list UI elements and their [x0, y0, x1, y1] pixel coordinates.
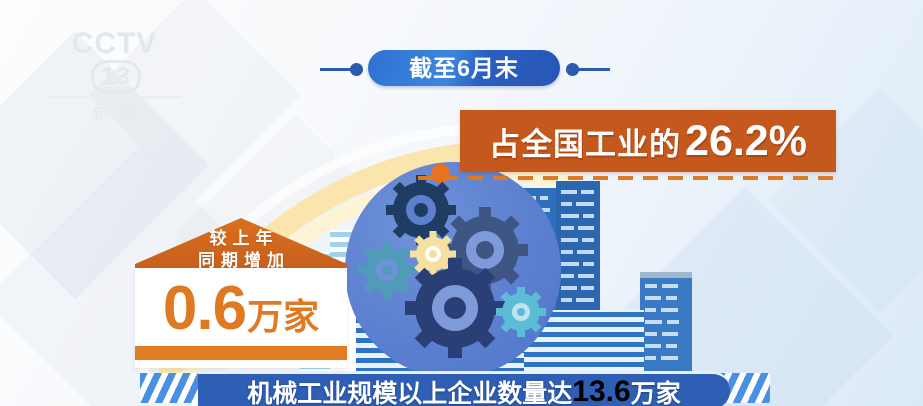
- gear-dark-navy-top: [386, 175, 456, 245]
- pill-right-line: [578, 68, 610, 71]
- orange-dashed-divider: [418, 176, 836, 180]
- share-prefix-label: 占全国工业的: [489, 119, 681, 164]
- roof-label-line1: 较上年: [141, 228, 347, 250]
- headline-value: 13.6: [572, 375, 630, 406]
- card-body: 0.6万家: [135, 268, 347, 368]
- cctv-logo-number: 13: [91, 60, 141, 94]
- infographic-canvas: CCTV13 新闻 截至6月末 占全国工业的 26.2% 较上年 同期增加 0.…: [0, 0, 923, 406]
- gear-navy-large-bottom: [405, 258, 505, 358]
- share-value: 26.2%: [685, 117, 807, 166]
- cctv-logo: CCTV13 新闻: [47, 28, 182, 88]
- yoy-increase-card: 较上年 同期增加 0.6万家: [135, 218, 347, 368]
- cctv-logo-text: CCTV: [72, 27, 158, 60]
- cctv-logo-subtitle: 新闻: [47, 96, 182, 125]
- left-stripe-decoration: [140, 373, 206, 403]
- broadcast-watermark-icon: [881, 10, 911, 34]
- period-label: 截至6月末: [368, 50, 560, 86]
- cctv-logo-wordmark: CCTV13: [47, 28, 182, 94]
- yoy-increase-unit: 万家: [247, 296, 319, 337]
- gear-teal-left: [358, 241, 416, 299]
- headline-banner: 机械工业规模以上企业数量达13.6万家: [140, 371, 770, 406]
- headline-unit: 万家: [631, 374, 681, 406]
- header-pill-group: 截至6月末: [320, 50, 610, 88]
- gear-cyan-small-right: [496, 287, 546, 337]
- share-of-industry-banner: 占全国工业的 26.2%: [460, 110, 836, 172]
- pill-left-line: [320, 68, 354, 71]
- card-roof-label: 较上年 同期增加: [135, 228, 347, 272]
- yoy-increase-number: 0.6: [163, 274, 246, 343]
- headline-bar: 机械工业规模以上企业数量达13.6万家: [198, 371, 730, 406]
- headline-text: 机械工业规模以上企业数量达: [247, 374, 572, 406]
- gear-cluster-circle: [345, 162, 561, 378]
- card-base-bar: [135, 346, 347, 360]
- pill-left-dot-icon: [350, 63, 363, 76]
